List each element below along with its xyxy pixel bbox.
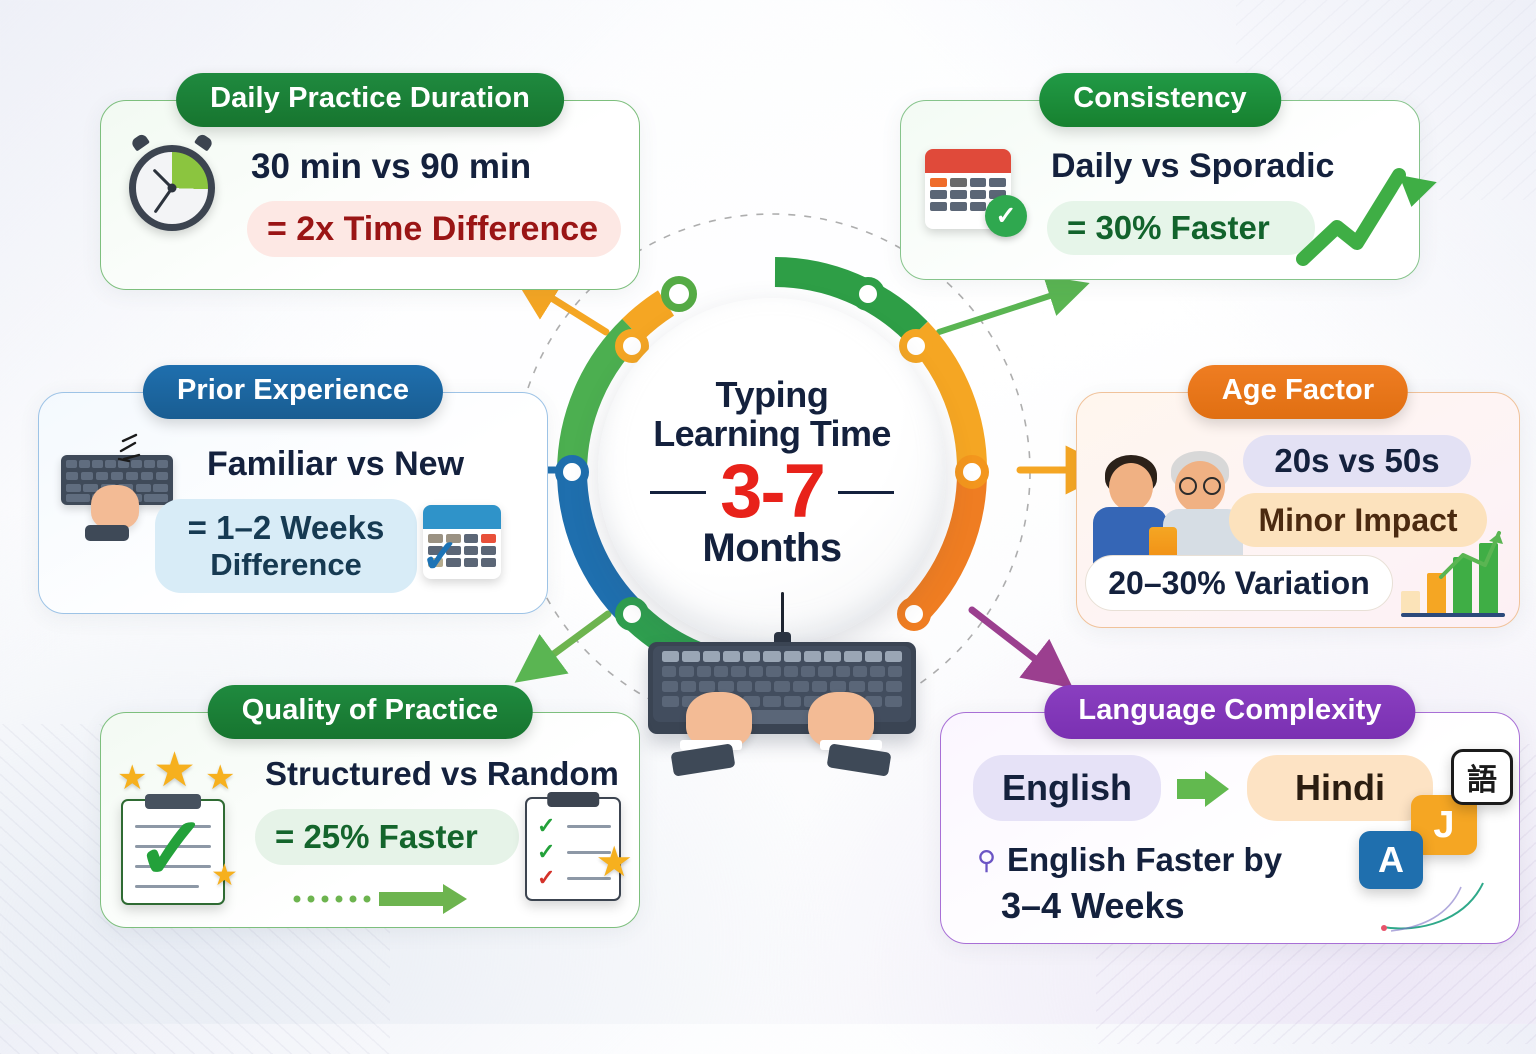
ring-node-consistency xyxy=(855,281,881,307)
progress-arrow-icon xyxy=(291,881,511,915)
card-prior-comparison: Familiar vs New xyxy=(207,445,464,484)
typing-hand-icon xyxy=(91,485,139,529)
bubble-j-label: J xyxy=(1433,804,1454,847)
infographic-canvas: Typing Learning Time 3-7 Months xyxy=(0,0,1536,1024)
hub-value-row: 3-7 xyxy=(650,454,894,530)
center-hub: Typing Learning Time 3-7 Months xyxy=(546,246,998,698)
card-prior-result-line2: Difference xyxy=(210,547,362,583)
bubble-cjk-label: 語 xyxy=(1467,755,1497,799)
check-badge-icon: ✓ xyxy=(985,195,1027,237)
ring-node-language xyxy=(901,601,927,627)
card-language-complexity[interactable]: Language Complexity English Hindi ⚲ Engl… xyxy=(940,712,1520,944)
calendar-blue-check-icon: ✓ xyxy=(421,533,460,579)
speech-bubble-cjk-icon: 語 xyxy=(1451,749,1513,805)
ring-node-orange-upper xyxy=(619,333,645,359)
card-language-note-line2: 3–4 Weeks xyxy=(1001,885,1184,927)
star-icon-center: ★ xyxy=(153,747,196,795)
key-icon: ⚲ xyxy=(977,845,996,876)
hub-rule-left xyxy=(650,491,706,494)
green-check-icon: ✓ xyxy=(135,805,209,893)
tap-lines-icon xyxy=(115,429,171,469)
card-consistency-result: = 30% Faster xyxy=(1047,201,1315,255)
decorative-swirl xyxy=(1379,869,1509,939)
arrow-right-icon xyxy=(1175,769,1235,809)
hub-center-disc: Typing Learning Time 3-7 Months xyxy=(598,298,946,646)
star-icon-left: ★ xyxy=(117,761,147,795)
card-consistency-comparison: Daily vs Sporadic xyxy=(1051,147,1334,186)
bar-chart-icon xyxy=(1401,541,1505,613)
right-sleeve xyxy=(827,743,892,776)
hub-value: 3-7 xyxy=(720,454,824,530)
card-age-factor[interactable]: Age Factor 20s vs 50s Minor Impact 20–30… xyxy=(1076,392,1520,628)
ring-node-quality xyxy=(619,601,645,627)
hub-rule-right xyxy=(838,491,894,494)
card-daily-practice-duration[interactable]: Daily Practice Duration 30 min vs 90 min… xyxy=(100,100,640,290)
card-language-from: English xyxy=(973,755,1161,821)
hub-title-line1: Typing xyxy=(716,376,829,413)
card-quality-result: = 25% Faster xyxy=(255,809,519,865)
card-prior-result: = 1–2 Weeks Difference xyxy=(155,499,417,593)
ring-node-right xyxy=(959,459,985,485)
card-prior-result-line1: = 1–2 Weeks xyxy=(188,509,385,547)
typing-hand-sleeve xyxy=(85,525,129,541)
upward-trend-arrow-icon xyxy=(1295,131,1445,271)
star-icon-badge: ★ xyxy=(211,861,238,891)
ring-node-prior xyxy=(559,459,585,485)
hub-unit: Months xyxy=(702,528,841,568)
hub-title-line2: Learning Time xyxy=(653,415,891,452)
ring-node-age xyxy=(903,333,929,359)
star-icon-clipboard: ★ xyxy=(595,841,633,883)
card-language-note-line1: English Faster by xyxy=(1007,841,1282,879)
star-icon-right: ★ xyxy=(205,761,235,795)
card-age-variation: 20–30% Variation xyxy=(1085,555,1393,611)
alarm-clock-icon xyxy=(129,145,215,231)
card-daily-result: = 2x Time Difference xyxy=(247,201,621,257)
ring-node-daily xyxy=(665,280,693,308)
card-daily-comparison: 30 min vs 90 min xyxy=(251,147,531,187)
card-prior-experience[interactable]: Prior Experience Familiar vs New = 1–2 W… xyxy=(38,392,548,614)
card-age-comparison: 20s vs 50s xyxy=(1243,435,1471,487)
card-consistency[interactable]: Consistency ✓ Daily vs Sporadic = 30% Fa… xyxy=(900,100,1420,280)
card-quality-of-practice[interactable]: Quality of Practice ★ ★ ★ ✓ ★ Structured… xyxy=(100,712,640,928)
card-language-to: Hindi xyxy=(1247,755,1433,821)
card-quality-comparison: Structured vs Random xyxy=(265,755,619,793)
keyboard-illustration xyxy=(648,636,916,776)
